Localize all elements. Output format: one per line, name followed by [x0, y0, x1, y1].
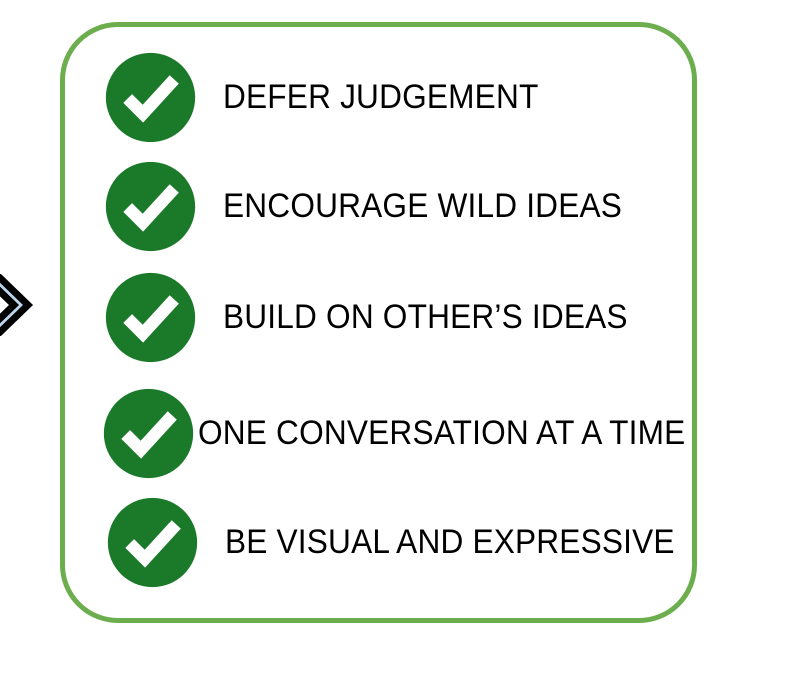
list-item: ENCOURAGE WILD IDEAS — [103, 158, 652, 254]
list-item: BE VISUAL AND EXPRESSIVE — [105, 494, 709, 590]
check-circle-icon — [103, 50, 198, 145]
rule-label: ONE CONVERSATION AT A TIME — [198, 416, 685, 450]
list-item: DEFER JUDGEMENT — [103, 49, 562, 145]
infographic-canvas: DEFER JUDGEMENT ENCOURAGE WILD IDEAS BUI… — [0, 0, 788, 686]
list-item: ONE CONVERSATION AT A TIME — [101, 385, 722, 481]
check-circle-icon — [103, 159, 198, 254]
check-circle-icon — [103, 270, 198, 365]
check-circle-icon — [105, 495, 200, 590]
rules-list: DEFER JUDGEMENT ENCOURAGE WILD IDEAS BUI… — [65, 27, 692, 618]
rule-label: BUILD ON OTHER’S IDEAS — [223, 300, 628, 334]
check-circle-icon — [101, 386, 196, 481]
arrow-pointing-right-icon — [0, 274, 34, 336]
rule-label: DEFER JUDGEMENT — [223, 80, 538, 114]
rule-label: BE VISUAL AND EXPRESSIVE — [225, 525, 675, 559]
list-item: BUILD ON OTHER’S IDEAS — [103, 269, 658, 365]
rules-card: DEFER JUDGEMENT ENCOURAGE WILD IDEAS BUI… — [60, 22, 697, 623]
rule-label: ENCOURAGE WILD IDEAS — [223, 189, 622, 223]
